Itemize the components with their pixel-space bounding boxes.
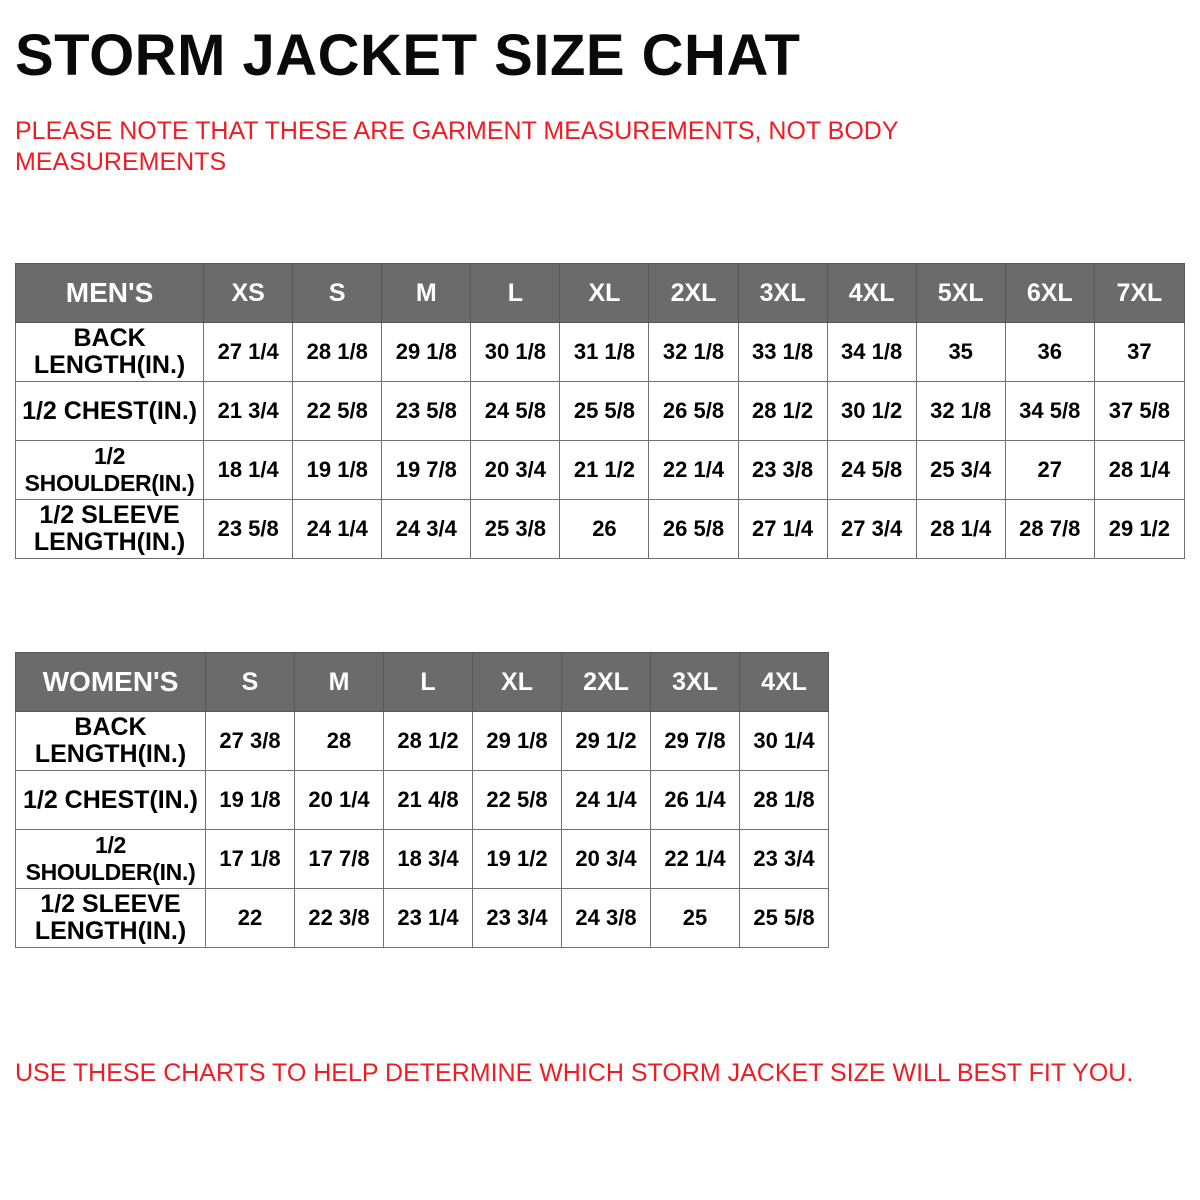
label-line-2: LENGTH(IN.)	[34, 351, 185, 379]
cell-value: 23 3/8	[738, 441, 827, 500]
cell-value: 24 3/4	[382, 500, 471, 559]
cell-value: 29 1/8	[382, 323, 471, 382]
cell-value: 23 3/4	[740, 830, 829, 889]
chart-usage-note: USE THESE CHARTS TO HELP DETERMINE WHICH…	[15, 1058, 1185, 1088]
cell-value: 25	[651, 889, 740, 948]
cell-value: 22 5/8	[473, 771, 562, 830]
mens-row-label-back-length: BACK LENGTH(IN.)	[16, 323, 204, 382]
cell-value: 22 1/4	[649, 441, 738, 500]
cell-value: 18 3/4	[384, 830, 473, 889]
cell-value: 22 1/4	[651, 830, 740, 889]
table-row: 1/2 SHOULDER(IN.) 17 1/8 17 7/8 18 3/4 1…	[16, 830, 829, 889]
mens-size-table: MEN'S XS S M L XL 2XL 3XL 4XL 5XL 6XL 7X…	[15, 263, 1185, 559]
mens-row-label-half-chest: 1/2 CHEST(IN.)	[16, 382, 204, 441]
womens-table-header: WOMEN'S S M L XL 2XL 3XL 4XL	[16, 653, 829, 712]
womens-size-table: WOMEN'S S M L XL 2XL 3XL 4XL BACK LENGTH…	[15, 652, 829, 948]
cell-value: 31 1/8	[560, 323, 649, 382]
mens-table-header: MEN'S XS S M L XL 2XL 3XL 4XL 5XL 6XL 7X…	[16, 264, 1185, 323]
mens-size-header-xl: XL	[560, 264, 649, 323]
cell-value: 25 5/8	[740, 889, 829, 948]
table-row: 1/2 SHOULDER(IN.) 18 1/4 19 1/8 19 7/8 2…	[16, 441, 1185, 500]
cell-value: 32 1/8	[916, 382, 1005, 441]
womens-row-label-half-chest: 1/2 CHEST(IN.)	[16, 771, 206, 830]
cell-value: 28 1/8	[740, 771, 829, 830]
cell-value: 28 1/4	[1094, 441, 1184, 500]
womens-size-header-xl: XL	[473, 653, 562, 712]
label-line-2: LENGTH(IN.)	[34, 528, 185, 556]
page-title: STORM JACKET SIZE CHAT	[15, 24, 800, 88]
cell-value: 24 5/8	[471, 382, 560, 441]
cell-value: 26	[560, 500, 649, 559]
womens-size-header-2xl: 2XL	[562, 653, 651, 712]
cell-value: 26 5/8	[649, 500, 738, 559]
mens-size-header-3xl: 3XL	[738, 264, 827, 323]
table-row: 1/2 CHEST(IN.) 19 1/8 20 1/4 21 4/8 22 5…	[16, 771, 829, 830]
mens-size-header-4xl: 4XL	[827, 264, 916, 323]
cell-value: 24 5/8	[827, 441, 916, 500]
cell-value: 19 1/8	[293, 441, 382, 500]
cell-value: 17 7/8	[295, 830, 384, 889]
cell-value: 26 5/8	[649, 382, 738, 441]
label-line-2: LENGTH(IN.)	[35, 740, 186, 768]
cell-value: 27 3/4	[827, 500, 916, 559]
cell-value: 28 1/8	[293, 323, 382, 382]
mens-size-header-6xl: 6XL	[1005, 264, 1094, 323]
womens-size-header-3xl: 3XL	[651, 653, 740, 712]
womens-size-header-m: M	[295, 653, 384, 712]
womens-row-label-half-sleeve-length: 1/2 SLEEVE LENGTH(IN.)	[16, 889, 206, 948]
cell-value: 23 1/4	[384, 889, 473, 948]
cell-value: 28	[295, 712, 384, 771]
womens-category-header: WOMEN'S	[16, 653, 206, 712]
cell-value: 24 1/4	[293, 500, 382, 559]
cell-value: 22 5/8	[293, 382, 382, 441]
cell-value: 28 1/2	[384, 712, 473, 771]
cell-value: 29 1/8	[473, 712, 562, 771]
mens-table-body: BACK LENGTH(IN.) 27 1/4 28 1/8 29 1/8 30…	[16, 323, 1185, 559]
cell-value: 21 4/8	[384, 771, 473, 830]
cell-value: 24 1/4	[562, 771, 651, 830]
cell-value: 20 3/4	[471, 441, 560, 500]
cell-value: 22 3/8	[295, 889, 384, 948]
womens-header-row: WOMEN'S S M L XL 2XL 3XL 4XL	[16, 653, 829, 712]
cell-value: 37 5/8	[1094, 382, 1184, 441]
cell-value: 34 5/8	[1005, 382, 1094, 441]
table-row: BACK LENGTH(IN.) 27 1/4 28 1/8 29 1/8 30…	[16, 323, 1185, 382]
cell-value: 26 1/4	[651, 771, 740, 830]
label-line-1: 1/2 SLEEVE	[40, 890, 180, 918]
mens-size-header-2xl: 2XL	[649, 264, 738, 323]
cell-value: 23 5/8	[382, 382, 471, 441]
cell-value: 25 3/8	[471, 500, 560, 559]
cell-value: 30 1/4	[740, 712, 829, 771]
mens-size-header-s: S	[293, 264, 382, 323]
cell-value: 30 1/8	[471, 323, 560, 382]
mens-size-header-xs: XS	[204, 264, 293, 323]
mens-category-header: MEN'S	[16, 264, 204, 323]
cell-value: 19 1/8	[206, 771, 295, 830]
table-row: 1/2 CHEST(IN.) 21 3/4 22 5/8 23 5/8 24 5…	[16, 382, 1185, 441]
label-line-1: BACK	[73, 324, 145, 352]
table-row: 1/2 SLEEVE LENGTH(IN.) 23 5/8 24 1/4 24 …	[16, 500, 1185, 559]
cell-value: 27	[1005, 441, 1094, 500]
cell-value: 22	[206, 889, 295, 948]
cell-value: 27 1/4	[204, 323, 293, 382]
cell-value: 32 1/8	[649, 323, 738, 382]
womens-size-header-4xl: 4XL	[740, 653, 829, 712]
cell-value: 28 1/4	[916, 500, 1005, 559]
cell-value: 23 5/8	[204, 500, 293, 559]
table-row: 1/2 SLEEVE LENGTH(IN.) 22 22 3/8 23 1/4 …	[16, 889, 829, 948]
cell-value: 27 3/8	[206, 712, 295, 771]
cell-value: 17 1/8	[206, 830, 295, 889]
cell-value: 19 7/8	[382, 441, 471, 500]
cell-value: 25 5/8	[560, 382, 649, 441]
womens-row-label-half-shoulder: 1/2 SHOULDER(IN.)	[16, 830, 206, 889]
mens-row-label-half-sleeve-length: 1/2 SLEEVE LENGTH(IN.)	[16, 500, 204, 559]
womens-size-header-s: S	[206, 653, 295, 712]
label-line-1: BACK	[74, 713, 146, 741]
cell-value: 21 1/2	[560, 441, 649, 500]
mens-size-header-5xl: 5XL	[916, 264, 1005, 323]
cell-value: 29 1/2	[562, 712, 651, 771]
mens-size-header-m: M	[382, 264, 471, 323]
cell-value: 18 1/4	[204, 441, 293, 500]
cell-value: 27 1/4	[738, 500, 827, 559]
cell-value: 33 1/8	[738, 323, 827, 382]
cell-value: 20 1/4	[295, 771, 384, 830]
garment-measurement-note: PLEASE NOTE THAT THESE ARE GARMENT MEASU…	[15, 116, 975, 178]
cell-value: 19 1/2	[473, 830, 562, 889]
cell-value: 25 3/4	[916, 441, 1005, 500]
cell-value: 21 3/4	[204, 382, 293, 441]
cell-value: 28 7/8	[1005, 500, 1094, 559]
womens-size-header-l: L	[384, 653, 473, 712]
cell-value: 30 1/2	[827, 382, 916, 441]
cell-value: 35	[916, 323, 1005, 382]
cell-value: 23 3/4	[473, 889, 562, 948]
mens-size-header-l: L	[471, 264, 560, 323]
label-line-2: LENGTH(IN.)	[35, 917, 186, 945]
table-row: BACK LENGTH(IN.) 27 3/8 28 28 1/2 29 1/8…	[16, 712, 829, 771]
cell-value: 34 1/8	[827, 323, 916, 382]
cell-value: 37	[1094, 323, 1184, 382]
label-line-1: 1/2 SLEEVE	[39, 501, 179, 529]
cell-value: 28 1/2	[738, 382, 827, 441]
cell-value: 29 1/2	[1094, 500, 1184, 559]
mens-row-label-half-shoulder: 1/2 SHOULDER(IN.)	[16, 441, 204, 500]
cell-value: 24 3/8	[562, 889, 651, 948]
cell-value: 36	[1005, 323, 1094, 382]
mens-header-row: MEN'S XS S M L XL 2XL 3XL 4XL 5XL 6XL 7X…	[16, 264, 1185, 323]
cell-value: 29 7/8	[651, 712, 740, 771]
womens-row-label-back-length: BACK LENGTH(IN.)	[16, 712, 206, 771]
womens-table-body: BACK LENGTH(IN.) 27 3/8 28 28 1/2 29 1/8…	[16, 712, 829, 948]
mens-size-header-7xl: 7XL	[1094, 264, 1184, 323]
cell-value: 20 3/4	[562, 830, 651, 889]
